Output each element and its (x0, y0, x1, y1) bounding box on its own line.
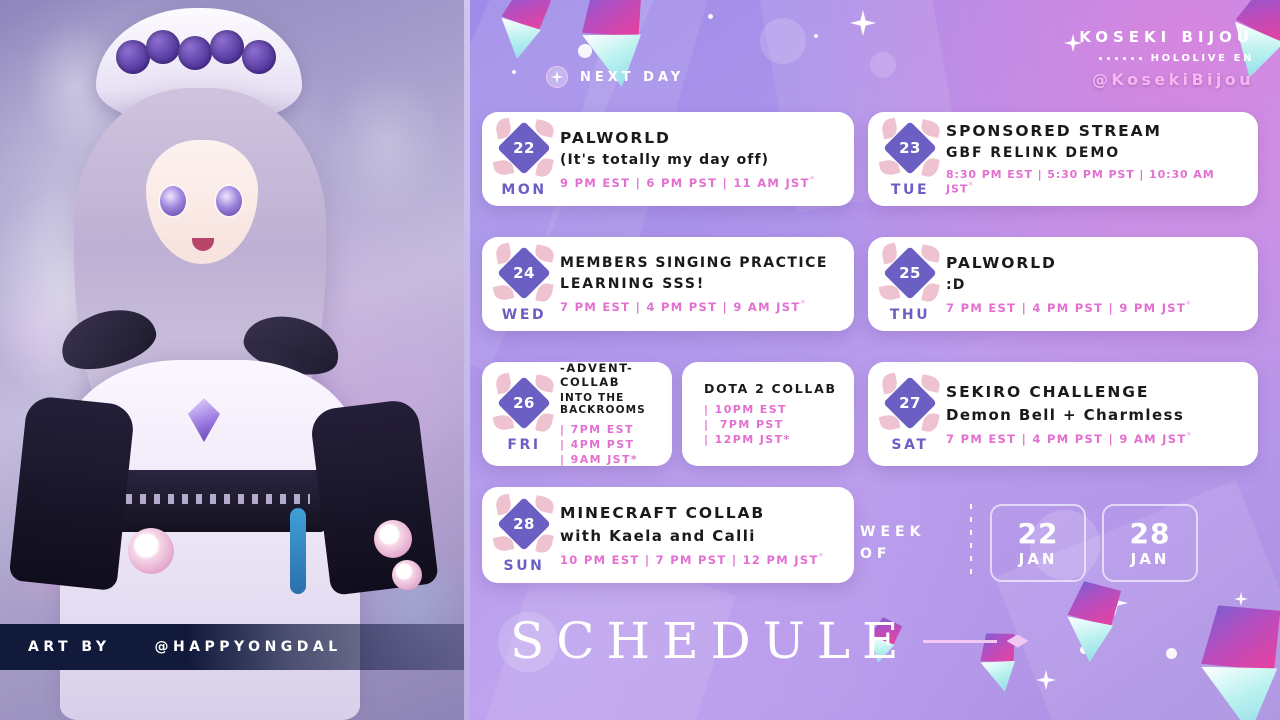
bokeh-orb (760, 18, 806, 64)
event-subtitle: INTO THE BACKROOMS (560, 392, 662, 416)
weekday-label: FRI (507, 437, 540, 453)
event-title: SEKIRO CHALLENGE (946, 383, 1242, 401)
event-title: DOTA 2 COLLAB (704, 381, 837, 396)
schedule-card-tue[interactable]: 23 TUE SPONSORED STREAM GBF RELINK DEMO … (868, 112, 1258, 206)
event-times: 7 PM EST | 4 PM PST | 9 AM JST* (560, 299, 838, 314)
title-rule (923, 640, 997, 643)
time-line: | 10PM EST (704, 402, 837, 417)
time-line: | 12PM JST* (704, 432, 837, 447)
sparkle-dot (708, 14, 713, 19)
schedule-panel: NEXT DAY KOSEKI BIJOU HOLOLIVE EN @Kosek… (470, 0, 1280, 720)
page-title: SCHEDULE (510, 612, 911, 670)
week-of-label: WEEK OF (860, 521, 970, 565)
week-start-month: JAN (1019, 550, 1058, 568)
date-badge: 23 TUE (874, 121, 946, 198)
art-credit-label: ART BY (28, 639, 110, 655)
weekday-label: TUE (891, 182, 929, 198)
asterisk: * (1186, 431, 1192, 441)
weekday-label: THU (890, 307, 930, 323)
event-times: 7 PM EST | 4 PM PST | 9 PM JST* (946, 300, 1242, 315)
event-title: PALWORLD (946, 254, 1242, 272)
art-credit-handle: @HAPPYONGDAL (154, 639, 341, 655)
event-subtitle: Demon Bell + Charmless (946, 406, 1242, 424)
character-flower-c (392, 560, 422, 590)
schedule-card-sun[interactable]: 28 SUN MINECRAFT COLLAB with Kaela and C… (482, 487, 854, 583)
crystal-gem (1060, 579, 1121, 658)
weekday-label: SAT (891, 437, 928, 453)
artwork-panel: ART BY @HAPPYONGDAL (0, 0, 470, 720)
sparkle-dot (1166, 648, 1177, 659)
bokeh-orb (870, 52, 896, 78)
week-start-box: 22 JAN (990, 504, 1086, 582)
next-day-label: NEXT DAY (580, 70, 684, 85)
schedule-graphic: ART BY @HAPPYONGDAL (0, 0, 1280, 720)
event-times: | 10PM EST | 7PM PST | 12PM JST* (704, 402, 837, 447)
schedule-card-sat[interactable]: 27 SAT SEKIRO CHALLENGE Demon Bell + Cha… (868, 362, 1258, 466)
character-eye-right (216, 186, 242, 216)
brand-name: KOSEKI BIJOU (1079, 28, 1254, 46)
week-end-month: JAN (1131, 550, 1170, 568)
date-number: 28 (497, 497, 551, 551)
date-badge: 27 SAT (874, 376, 946, 453)
date-number: 24 (497, 246, 551, 300)
character-tassel (290, 508, 306, 594)
time-line: | 7PM EST (560, 422, 662, 437)
time-line: | 7PM PST (704, 417, 837, 432)
event-times: 9 PM EST | 6 PM PST | 11 AM JST* (560, 175, 838, 190)
sparkle-dot (814, 34, 818, 38)
event-subtitle: with Kaela and Calli (560, 527, 838, 545)
event-times: 8:30 PM EST | 5:30 PM PST | 10:30 AM JST… (946, 168, 1242, 196)
date-badge: 24 WED (488, 246, 560, 323)
crystal-gem (1192, 601, 1280, 720)
character-eye-left (160, 186, 186, 216)
asterisk: * (1186, 300, 1192, 310)
art-credit-bar: ART BY @HAPPYONGDAL (0, 624, 470, 670)
event-times: 10 PM EST | 7 PM PST | 12 PM JST* (560, 552, 838, 567)
date-badge: 25 THU (874, 246, 946, 323)
brand-handle: @KosekiBijou (1079, 70, 1254, 89)
asterisk: * (800, 299, 806, 309)
character-flower-a (128, 528, 174, 574)
event-subtitle: :D (946, 277, 1242, 293)
week-start-day: 22 (1018, 519, 1059, 549)
event-times: 7 PM EST | 4 PM PST | 9 AM JST* (946, 431, 1242, 446)
schedule-card-fri[interactable]: 26 FRI -ADVENT- COLLAB INTO THE BACKROOM… (482, 362, 672, 466)
event-title: SPONSORED STREAM (946, 122, 1242, 140)
next-day-marker: NEXT DAY (546, 66, 684, 88)
character-sleeve-left (9, 395, 136, 591)
event-subtitle: (It's totally my day off) (560, 152, 838, 168)
brand-agency: HOLOLIVE EN (1151, 53, 1254, 64)
event-title: -ADVENT- COLLAB (560, 361, 662, 389)
schedule-card-wed[interactable]: 24 WED MEMBERS SINGING PRACTICE LEARNING… (482, 237, 854, 331)
date-number: 22 (497, 121, 551, 175)
schedule-card-thu[interactable]: 25 THU PALWORLD :D 7 PM EST | 4 PM PST |… (868, 237, 1258, 331)
time-line: | 9AM JST* (560, 452, 662, 467)
date-number: 23 (883, 121, 937, 175)
date-badge: 26 FRI (488, 376, 560, 453)
date-number: 26 (497, 376, 551, 430)
weekday-label: SUN (504, 558, 545, 574)
asterisk: * (810, 175, 816, 185)
week-of-block: WEEK OF 22 JAN 28 JAN (860, 495, 1260, 591)
event-subtitle: GBF RELINK DEMO (946, 145, 1242, 161)
diamond-icon (1007, 635, 1029, 648)
event-times: | 7PM EST | 4PM PST | 9AM JST* (560, 422, 662, 467)
time-line: | 4PM PST (560, 437, 662, 452)
event-title: PALWORLD (560, 129, 838, 147)
sparkle-dot (512, 70, 516, 74)
week-end-box: 28 JAN (1102, 504, 1198, 582)
asterisk: * (631, 453, 638, 466)
date-badge: 28 SUN (488, 497, 560, 574)
character-flower-b (374, 520, 412, 558)
weekday-label: MON (501, 182, 546, 198)
week-end-day: 28 (1130, 519, 1171, 549)
asterisk: * (819, 552, 825, 562)
date-number: 27 (883, 376, 937, 430)
date-badge: 22 MON (488, 121, 560, 198)
event-title: MINECRAFT COLLAB (560, 504, 838, 522)
weekday-label: WED (502, 307, 546, 323)
date-number: 25 (883, 246, 937, 300)
event-title: MEMBERS SINGING PRACTICE (560, 255, 838, 271)
event-subtitle: LEARNING SSS! (560, 276, 838, 292)
asterisk: * (784, 433, 791, 446)
schedule-card-mon[interactable]: 22 MON PALWORLD (It's totally my day off… (482, 112, 854, 206)
character-flower-crown (116, 30, 284, 86)
asterisk: * (968, 181, 974, 191)
dot-separator (1099, 57, 1142, 60)
branding-block: KOSEKI BIJOU HOLOLIVE EN @KosekiBijou (1079, 28, 1254, 89)
schedule-card-fri-secondary[interactable]: DOTA 2 COLLAB | 10PM EST | 7PM PST | 12P… (682, 362, 854, 466)
schedule-title-block: SCHEDULE (510, 612, 1029, 670)
dotted-divider (970, 504, 972, 582)
sparkle-icon (546, 66, 568, 88)
